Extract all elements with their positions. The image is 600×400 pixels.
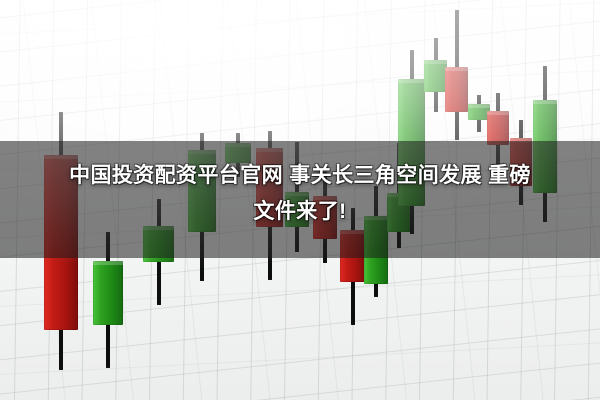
headline-line-2: 文件来了! — [0, 194, 600, 230]
candlestick-body-highlight — [398, 79, 425, 83]
headline-text: 中国投资配资平台官网 事关长三角空间发展 重磅 文件来了! — [0, 158, 600, 230]
candlestick-body-up — [424, 60, 447, 92]
candlestick-body-up — [93, 261, 123, 325]
banner-canvas: 中国投资配资平台官网 事关长三角空间发展 重磅 文件来了! — [0, 0, 600, 400]
headline-line-1: 中国投资配资平台官网 事关长三角空间发展 重磅 — [0, 158, 600, 194]
candlestick-body-down — [487, 111, 509, 145]
candlestick-body-highlight — [487, 111, 509, 115]
candlestick-body-highlight — [445, 67, 468, 71]
candlestick-body-highlight — [93, 261, 123, 265]
candlestick-body-highlight — [424, 60, 447, 64]
candlestick-body-down — [445, 67, 468, 112]
candlestick-body-highlight — [533, 100, 557, 104]
